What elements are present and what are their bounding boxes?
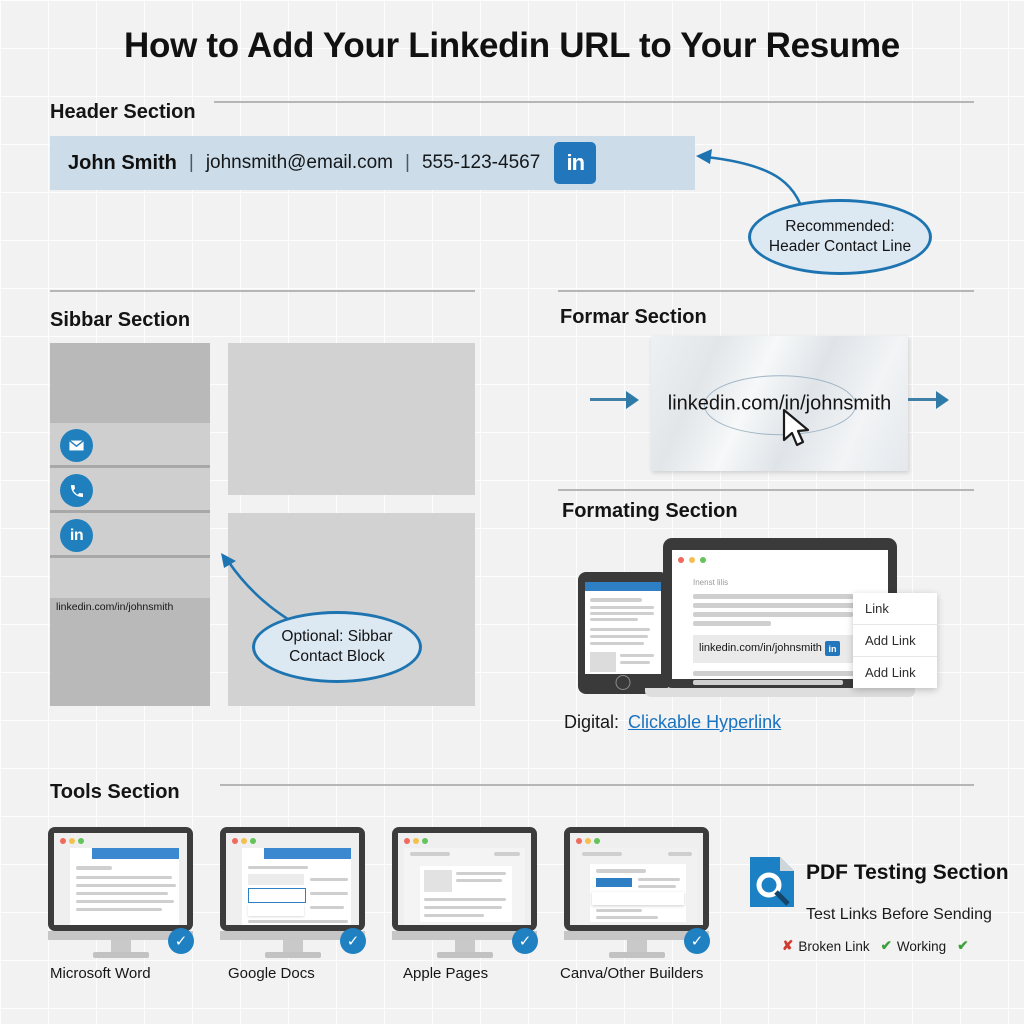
tool-label-google-docs: Google Docs: [228, 965, 315, 982]
header-callout-line2: Header Contact Line: [769, 237, 911, 257]
contact-separator-1: |: [189, 152, 194, 174]
broken-link-label: Broken Link: [798, 939, 869, 954]
broken-link-x-icon: ✘: [782, 938, 793, 954]
tools-section-divider: [220, 784, 974, 786]
menu-item-add-link-1[interactable]: Add Link: [853, 625, 937, 657]
check-badge-icon: ✓: [168, 928, 194, 954]
sidebar-section-heading: Sibbar Section: [50, 309, 190, 332]
tool-label-apple-pages: Apple Pages: [403, 965, 488, 982]
sidebar-placeholder-block-top: [228, 343, 475, 495]
check-badge-icon: ✓: [512, 928, 538, 954]
check-badge-icon: ✓: [340, 928, 366, 954]
format-url-text: linkedin.com/in/johnsmith: [668, 392, 891, 415]
tool-monitor-google-docs[interactable]: ✓: [220, 827, 365, 959]
formatting-section-heading: Formating Section: [562, 500, 738, 523]
contact-phone: 555-123-4567: [422, 152, 540, 174]
working-label: Working: [897, 939, 946, 954]
header-section-heading: Header Section: [50, 101, 196, 124]
header-callout-line1: Recommended:: [769, 217, 911, 237]
arrow-right-icon: [936, 391, 949, 409]
tool-monitor-microsoft-word[interactable]: ✓: [48, 827, 193, 959]
laptop-base: [645, 688, 915, 697]
mouse-pointer-icon: [781, 408, 815, 452]
trailing-check-icon: ✔: [957, 938, 968, 954]
sidebar-callout-line1: Optional: Sibbar: [281, 627, 392, 647]
tablet-device: [578, 572, 668, 694]
contact-email: johnsmith@email.com: [206, 152, 393, 174]
digital-label: Digital:: [564, 712, 619, 732]
link-context-menu[interactable]: Link Add Link Add Link: [853, 593, 937, 688]
tool-monitor-canva[interactable]: ✓: [564, 827, 709, 959]
format-section-divider: [558, 290, 974, 292]
pdf-section-heading: PDF Testing Section: [806, 861, 1009, 885]
pdf-section-subheading: Test Links Before Sending: [806, 906, 992, 924]
tools-section-heading: Tools Section: [50, 781, 180, 804]
formatting-section-divider: [558, 489, 974, 491]
menu-item-add-link-2[interactable]: Add Link: [853, 657, 937, 688]
pdf-search-icon: [748, 855, 796, 909]
envelope-icon[interactable]: [60, 429, 93, 462]
page-title: How to Add Your Linkedin URL to Your Res…: [0, 26, 1024, 66]
linkedin-icon[interactable]: in: [60, 519, 93, 552]
printed-resume-paper: linkedin.com/in/johnsmith: [651, 336, 908, 471]
sidebar-url-text: linkedin.com/in/johnsmith: [56, 601, 206, 613]
linkedin-icon: in: [825, 641, 840, 656]
sidebar-callout-line2: Contact Block: [281, 647, 392, 667]
sidebar-mock-column: in linkedin.com/in/johnsmith: [50, 343, 210, 706]
linkedin-icon[interactable]: in: [554, 142, 596, 184]
working-check-icon: ✔: [881, 938, 892, 954]
tool-label-canva: Canva/Other Builders: [560, 965, 703, 982]
header-callout-bubble: Recommended: Header Contact Line: [748, 199, 932, 275]
pdf-status-row: ✘ Broken Link ✔ Working ✔: [782, 938, 969, 954]
sidebar-section-divider: [50, 290, 475, 292]
laptop-url-text: linkedin.com/in/johnsmith: [699, 642, 822, 654]
format-right-arrow-line: [908, 398, 936, 401]
phone-icon[interactable]: [60, 474, 93, 507]
header-section-divider: [214, 101, 974, 103]
check-badge-icon: ✓: [684, 928, 710, 954]
clickable-hyperlink[interactable]: Clickable Hyperlink: [628, 712, 781, 732]
arrow-right-icon: [626, 391, 639, 409]
tool-monitor-apple-pages[interactable]: ✓: [392, 827, 537, 959]
laptop-doc-heading: Inenst lilis: [693, 578, 728, 587]
tool-label-microsoft-word: Microsoft Word: [50, 965, 151, 982]
sidebar-callout-bubble: Optional: Sibbar Contact Block: [252, 611, 422, 683]
format-left-arrow-line: [590, 398, 626, 401]
menu-item-link[interactable]: Link: [853, 593, 937, 625]
digital-hyperlink-line: Digital: Clickable Hyperlink: [564, 712, 781, 733]
contact-name: John Smith: [68, 152, 177, 175]
format-section-heading: Formar Section: [560, 306, 707, 329]
contact-separator-2: |: [405, 152, 410, 174]
resume-contact-bar: John Smith | johnsmith@email.com | 555-1…: [50, 136, 695, 190]
